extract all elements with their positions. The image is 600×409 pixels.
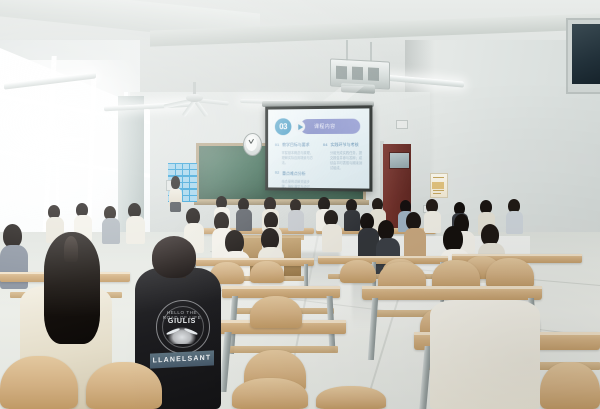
poster-cell xyxy=(183,177,189,182)
desk-edge xyxy=(222,286,340,289)
poster-cell xyxy=(190,164,196,169)
poster-cell xyxy=(183,170,189,175)
wall-notice-graphic xyxy=(432,182,444,189)
poster-cell xyxy=(190,177,196,182)
right-window-glass xyxy=(572,24,600,84)
poster-cell xyxy=(168,170,174,175)
classroom-photo: 03 课程内容 01 教学目标与要求 掌握基本概念与原理，理解实际应用场景与方法… xyxy=(0,0,600,409)
projector-lens xyxy=(341,83,375,94)
desk-edge xyxy=(452,254,582,256)
poster-cell xyxy=(176,164,182,169)
poster-cell xyxy=(176,170,182,175)
wall-junction-box xyxy=(396,120,408,129)
student-chair xyxy=(316,386,386,409)
teacher-skirt xyxy=(170,202,181,212)
projected-slide: 03 课程内容 01 教学目标与要求 掌握基本概念与原理，理解实际应用场景与方法… xyxy=(268,108,369,188)
poster-cell xyxy=(190,183,196,188)
student-chair xyxy=(0,356,78,409)
poster-cell xyxy=(183,196,189,201)
desk-edge xyxy=(362,286,542,289)
poster-cell xyxy=(183,183,189,188)
student-chair xyxy=(540,362,600,409)
student-chair xyxy=(250,261,284,283)
student-chair xyxy=(250,296,302,328)
ceiling-fan-hub xyxy=(186,94,203,102)
poster-cell xyxy=(190,196,196,201)
student-chair xyxy=(232,378,308,409)
student-chair xyxy=(86,362,162,409)
projection-screen[interactable]: 03 课程内容 01 教学目标与要求 掌握基本概念与原理，理解实际应用场景与方法… xyxy=(265,105,372,191)
poster-cell xyxy=(190,190,196,195)
shirt-text-middle: GIULIS xyxy=(160,318,204,325)
desk-edge xyxy=(318,256,448,258)
screen-glare xyxy=(268,108,369,188)
student-chair xyxy=(486,258,534,288)
poster-cell xyxy=(183,164,189,169)
door-window xyxy=(389,152,410,169)
student-chair xyxy=(340,260,376,283)
shirt-banner-text: LLANELSANT xyxy=(153,354,212,364)
hair-part xyxy=(64,236,78,262)
poster-cell xyxy=(183,190,189,195)
desk-edge xyxy=(186,258,314,260)
poster-cell xyxy=(190,170,196,175)
poster-cell xyxy=(168,164,174,169)
right-front-student xyxy=(430,300,540,409)
projector-mount-rod xyxy=(370,42,372,62)
graphic-tee-student xyxy=(152,236,196,278)
teacher xyxy=(171,176,180,189)
